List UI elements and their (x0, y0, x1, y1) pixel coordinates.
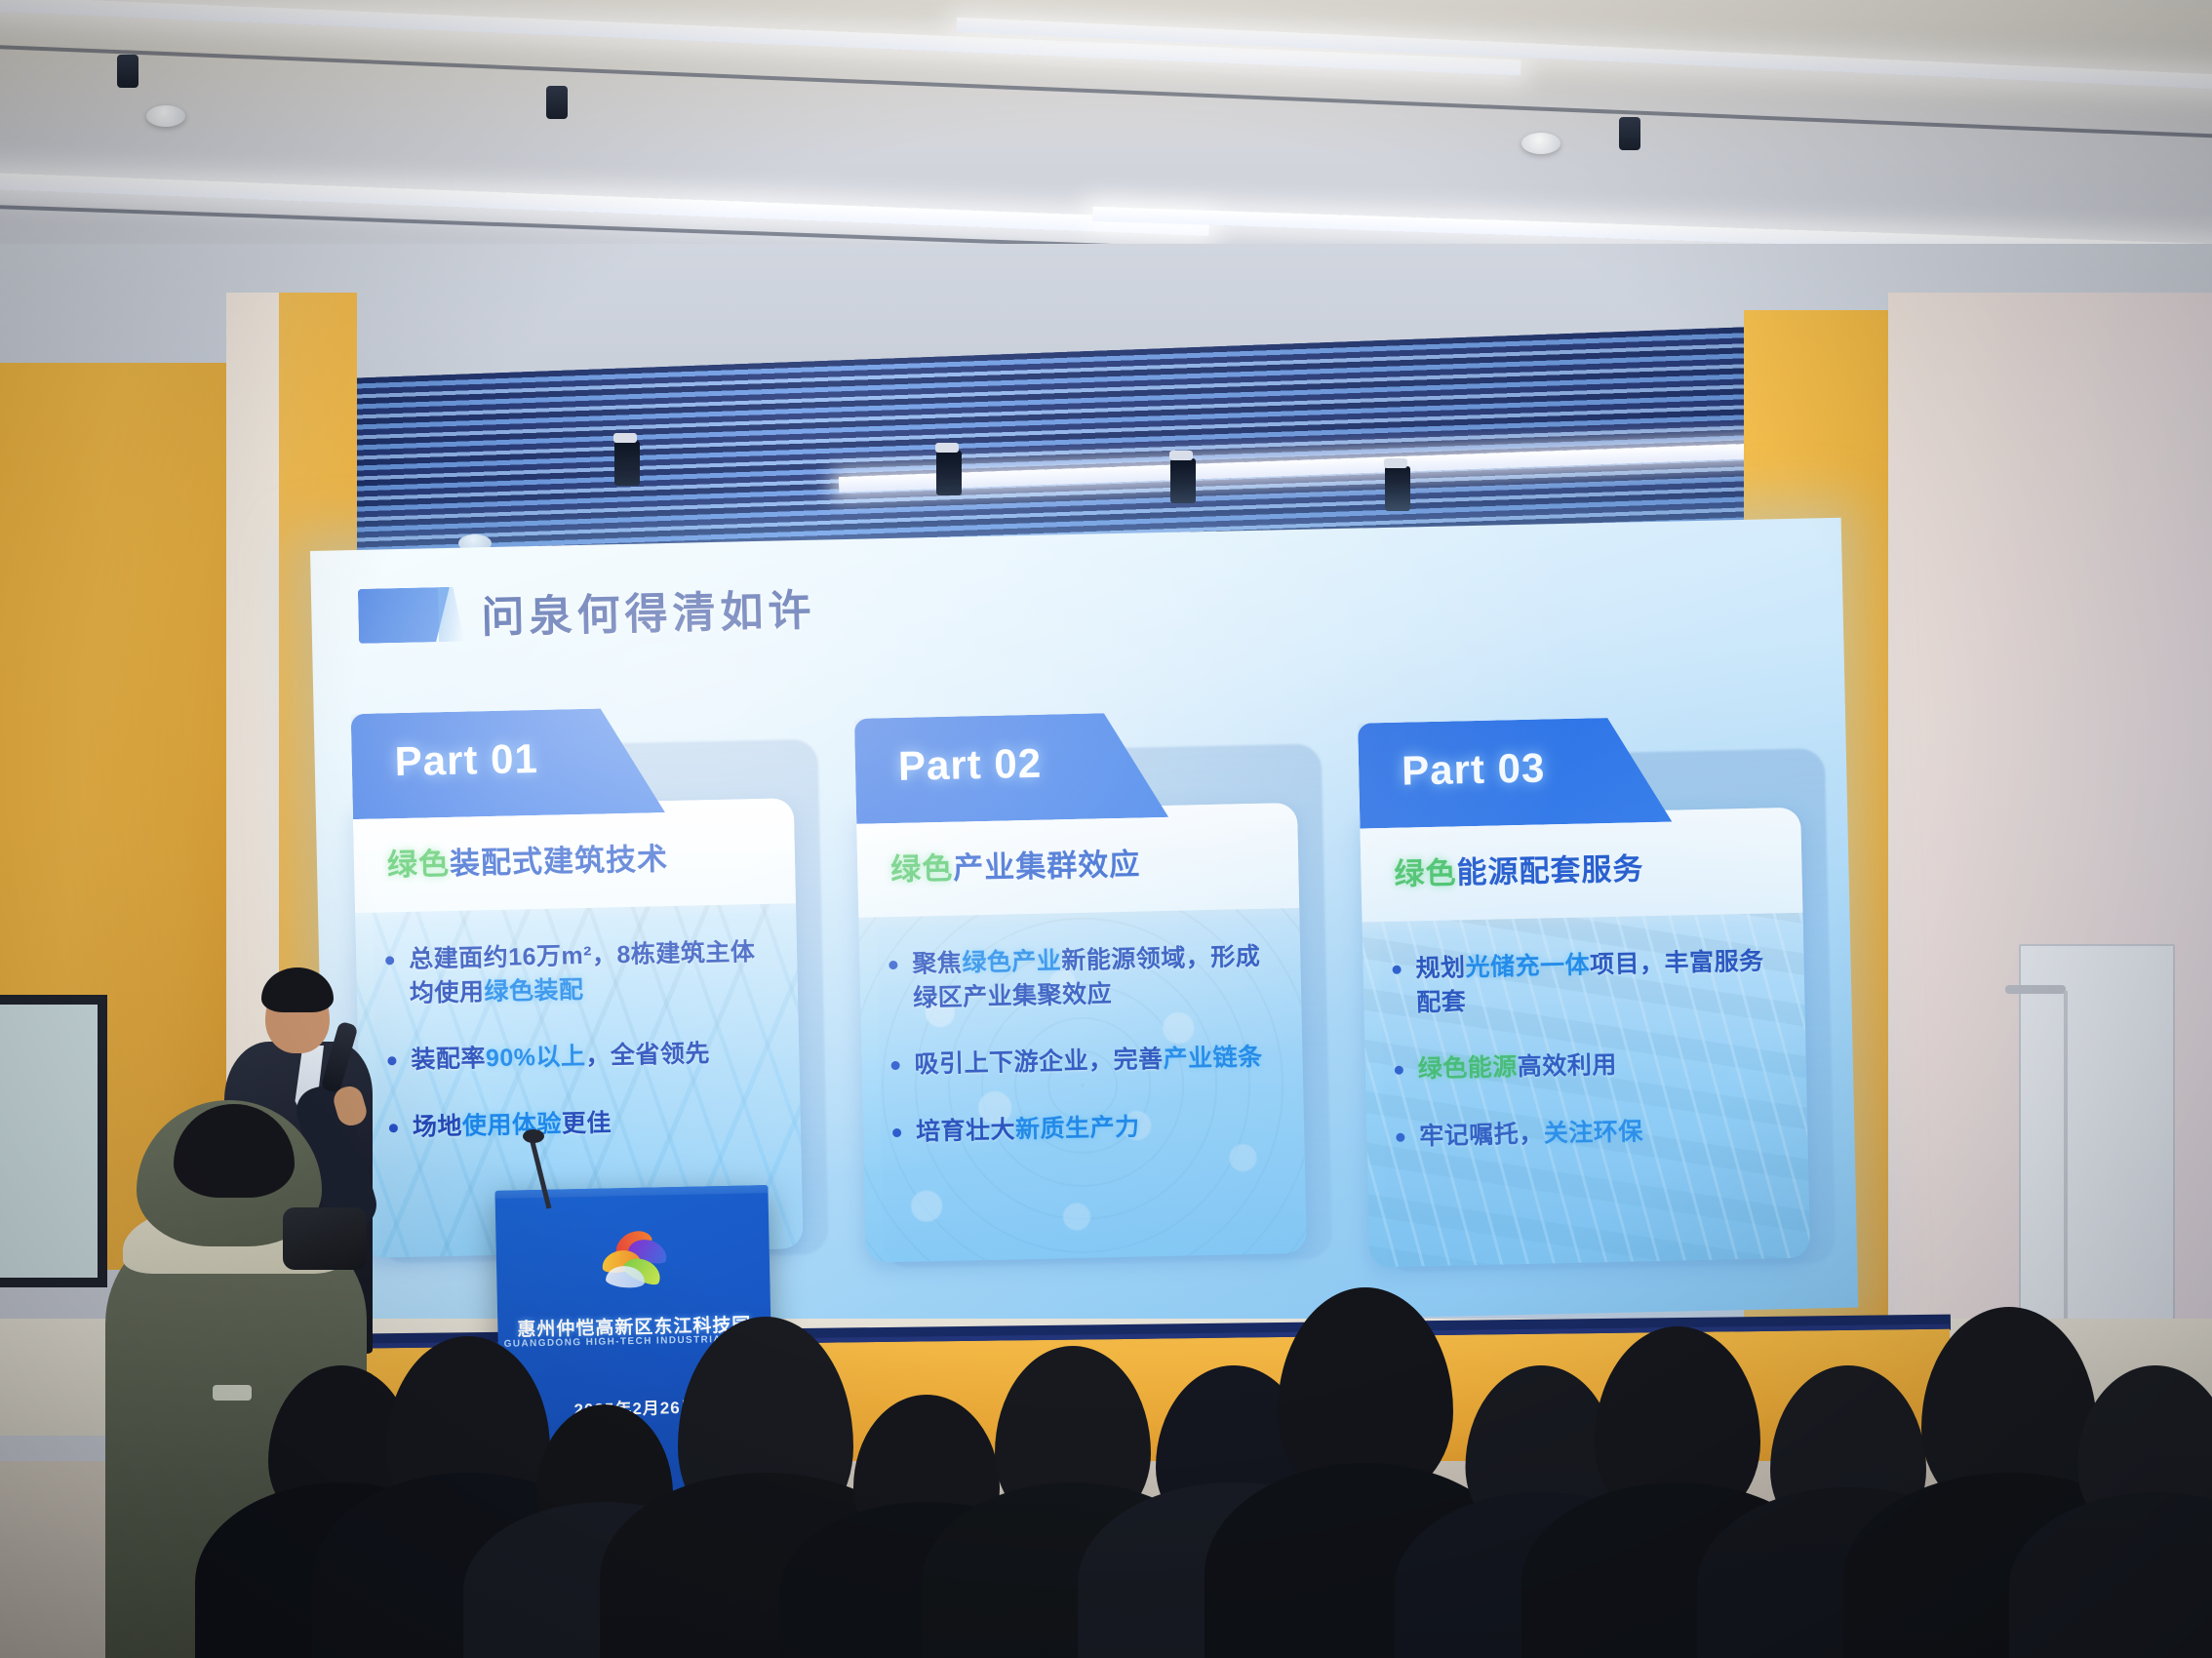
track-spotlight (1170, 458, 1196, 503)
bullet-pre: 培育壮大 (916, 1116, 1016, 1145)
bullet-highlight: 绿色装配 (484, 975, 584, 1005)
bullet-post: 更佳 (562, 1109, 612, 1137)
card-heading-green: 绿色 (1394, 855, 1457, 890)
track-spotlight-cap-icon (1169, 451, 1193, 460)
camera-icon (283, 1207, 367, 1270)
slide-title-row: 问泉何得清如许 (358, 575, 816, 648)
card-tab-label: Part 01 (394, 735, 538, 785)
card-heading-rest: 能源配套服务 (1456, 851, 1644, 889)
bullet-highlight: 关注环保 (1544, 1118, 1644, 1147)
audience-shoulders (2009, 1492, 2212, 1658)
bullet-item: 规划光储充一体项目，丰富服务配套 (1388, 944, 1777, 1020)
slide-card-part-03: 绿色能源配套服务 规划光储充一体项目，丰富服务配套 绿色能源高效利用 牢记嘱托，… (1358, 714, 1818, 1270)
ceiling-speaker-dome-icon (1521, 133, 1560, 154)
bullet-post: 高效利用 (1518, 1051, 1618, 1081)
bullet-highlight: 绿色能源 (1418, 1053, 1519, 1083)
slide-card-part-01: 绿色装配式建筑技术 总建面约16万m²，8栋建筑主体均使用绿色装配 装配率90%… (351, 704, 811, 1260)
bullet-item: 装配率90%以上，全省领先 (383, 1036, 772, 1078)
park-logo-icon (597, 1232, 672, 1294)
card-body: 绿色能源配套服务 规划光储充一体项目，丰富服务配套 绿色能源高效利用 牢记嘱托，… (1360, 808, 1810, 1268)
bullet-pre: 吸引上下游企业，完善 (914, 1046, 1164, 1079)
bullet-highlight: 光储充一体 (1465, 951, 1590, 981)
card-heading: 绿色装配式建筑技术 (386, 834, 668, 884)
track-spotlight-cap-icon (1384, 458, 1407, 468)
bullet-post: ，全省领先 (585, 1040, 710, 1070)
bullet-pre: 聚焦 (912, 950, 963, 978)
bullet-item: 牢记嘱托，关注环保 (1392, 1112, 1781, 1154)
title-swoosh-icon (438, 587, 464, 643)
bullet-highlight: 90%以上 (486, 1043, 586, 1072)
card-heading: 绿色能源配套服务 (1394, 844, 1644, 893)
ceiling-spotlight (1619, 117, 1640, 150)
track-spotlight (936, 451, 962, 495)
bullet-pre: 装配率 (411, 1045, 486, 1074)
bullet-highlight: 绿色产业 (962, 947, 1062, 976)
track-spotlight-cap-icon (613, 433, 637, 443)
podium-microphone-icon (523, 1129, 544, 1143)
card-heading: 绿色产业集群效应 (890, 840, 1141, 889)
card-tab-label: Part 02 (897, 740, 1042, 790)
bullet-item: 培育壮大新质生产力 (889, 1107, 1278, 1149)
ceiling-speaker-dome-icon (146, 105, 185, 127)
bullet-item: 绿色能源高效利用 (1390, 1045, 1779, 1086)
door-handle-icon[interactable] (2005, 985, 2066, 994)
bullet-highlight: 使用体验 (462, 1110, 563, 1139)
track-spotlight-cap-icon (935, 443, 959, 453)
slide-card-part-02: 绿色产业集群效应 聚焦绿色产业新能源领域，形成绿区产业集聚效应 吸引上下游企业，… (854, 709, 1315, 1265)
title-accent-tab (358, 587, 451, 644)
bullet-pre: 牢记嘱托， (1419, 1120, 1544, 1150)
card-tab-label: Part 03 (1402, 744, 1546, 794)
bullet-item: 总建面约16万m²，8栋建筑主体均使用绿色装配 (381, 935, 770, 1011)
bullet-item: 聚焦绿色产业新能源领域，形成绿区产业集聚效应 (885, 940, 1274, 1016)
card-heading-rest: 产业集群效应 (953, 848, 1141, 886)
card-heading-green: 绿色 (387, 847, 451, 882)
conference-room-photo: 问泉何得清如许 绿色装配式建筑技术 总建面约16万m²，8栋建筑 (0, 0, 2212, 1658)
bullet-highlight: 产业链条 (1163, 1044, 1263, 1073)
ceiling-spotlight (117, 55, 138, 88)
exit-door[interactable] (2019, 944, 2175, 1363)
card-heading-green: 绿色 (890, 851, 954, 887)
card-heading-rest: 装配式建筑技术 (450, 842, 669, 881)
track-spotlight (614, 441, 640, 486)
wall-picture-frame (0, 995, 107, 1287)
card-body: 绿色产业集群效应 聚焦绿色产业新能源领域，形成绿区产业集聚效应 吸引上下游企业，… (856, 803, 1307, 1263)
bullet-highlight: 新质生产力 (1015, 1113, 1140, 1143)
card-bullet-list: 规划光储充一体项目，丰富服务配套 绿色能源高效利用 牢记嘱托，关注环保 (1363, 917, 1811, 1268)
bullet-item: 吸引上下游企业，完善产业链条 (887, 1041, 1276, 1083)
bullet-pre: 场地 (413, 1112, 463, 1140)
bullet-pre: 规划 (1415, 954, 1466, 982)
bullet-item: 场地使用体验更佳 (385, 1102, 774, 1144)
slide-title: 问泉何得清如许 (481, 575, 816, 645)
ceiling-spotlight (546, 86, 568, 119)
audience-member (2009, 1365, 2212, 1658)
card-bullet-list: 聚焦绿色产业新能源领域，形成绿区产业集聚效应 吸引上下游企业，完善产业链条 培育… (858, 912, 1307, 1263)
track-spotlight (1385, 466, 1410, 511)
